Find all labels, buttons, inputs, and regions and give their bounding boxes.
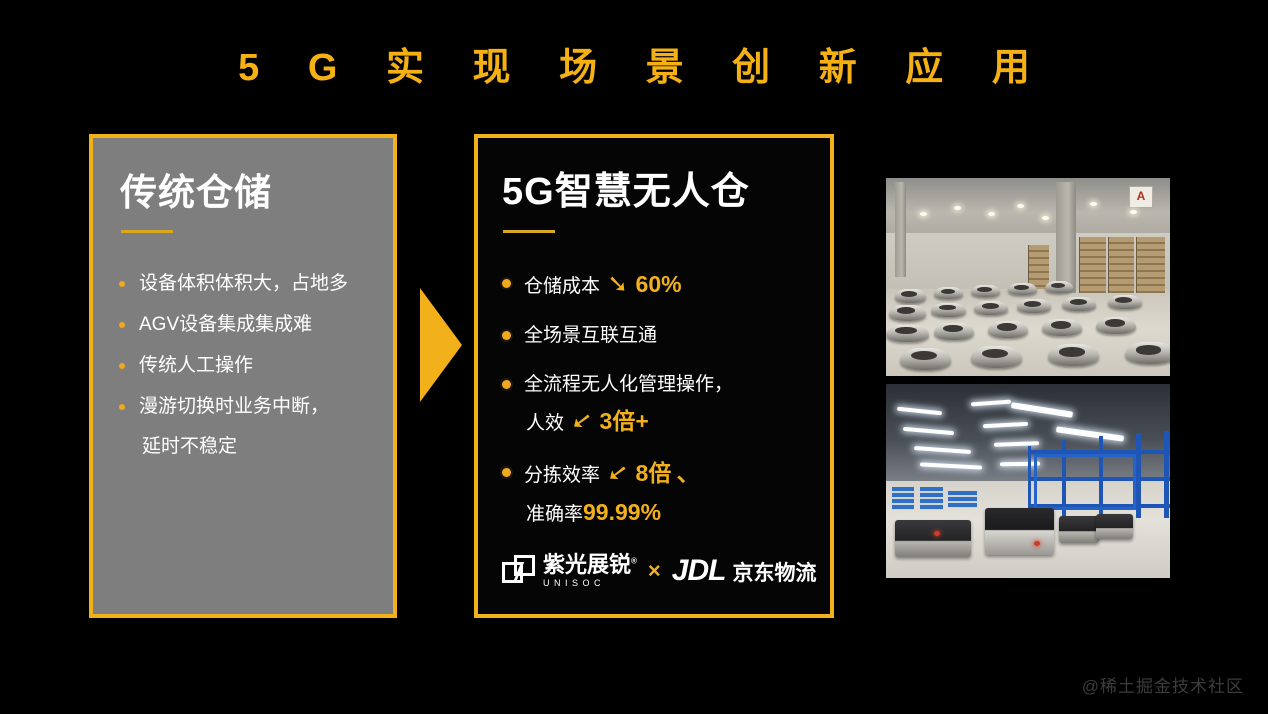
metric-value: 60% — [636, 271, 682, 297]
list-item-text: 全场景互联互通 — [524, 325, 657, 346]
arrow-up-trend-icon: ➘ — [603, 453, 633, 492]
arrow-down-trend-icon: ➘ — [605, 266, 630, 302]
list-item: 全流程无人化管理操作， 人效 ➘ 3倍+ — [502, 367, 816, 442]
list-item-text: 漫游切换时业务中断， — [139, 396, 329, 417]
left-panel-heading: 传统仓储 — [120, 162, 272, 216]
metric-suffix: 、 — [677, 460, 700, 486]
jdl-wordmark: JDL — [672, 554, 726, 588]
list-item-text: 设备体积体积大，占地多 — [139, 273, 348, 294]
list-item-text: 全流程无人化管理操作， — [524, 374, 733, 395]
list-item: 仓储成本 ➘ 60% — [502, 266, 816, 305]
bullet-dot-icon — [502, 279, 511, 288]
unisoc-logo: 紫光展锐® UNISOC — [502, 554, 637, 588]
aisle-sign-a: A — [1129, 186, 1153, 208]
metric-value-2: 99.99% — [583, 499, 661, 525]
metric-value: 8倍 — [636, 460, 672, 486]
left-panel-bullet-list: 设备体积体积大，占地多 AGV设备集成集成难 传统人工操作 漫游切换时业务中断，… — [117, 264, 379, 468]
list-item-text: 分拣效率 — [524, 465, 600, 486]
list-item-text: 仓储成本 — [524, 276, 600, 297]
unisoc-mark-icon — [502, 555, 536, 587]
list-item: 传统人工操作 — [117, 346, 379, 386]
panel-5g-smart-warehouse: 5G智慧无人仓 仓储成本 ➘ 60% 全场景互联互通 全流程无人化管理操作， 人… — [474, 134, 834, 618]
bullet-dot-icon — [119, 404, 125, 410]
metric-value: 3倍+ — [600, 408, 649, 434]
list-item-line2: 准确率99.99% — [524, 494, 816, 533]
logo-separator-x: × — [648, 558, 661, 584]
panel-traditional-warehouse: 传统仓储 设备体积体积大，占地多 AGV设备集成集成难 传统人工操作 漫游切换时… — [89, 134, 397, 618]
arrow-right-icon — [420, 288, 462, 402]
list-item: 漫游切换时业务中断， 延时不稳定 — [117, 387, 379, 467]
list-item-text-line2: 准确率 — [526, 504, 583, 525]
list-item: 分拣效率 ➘ 8倍 、 准确率99.99% — [502, 455, 816, 533]
photo-warehouse-agv-fleet: A — [886, 178, 1170, 376]
photo-warehouse-blue-racking — [886, 384, 1170, 578]
list-item-text: AGV设备集成集成难 — [139, 314, 312, 335]
jdl-logo: JDL 京东物流 — [672, 554, 817, 588]
partner-logo-row: 紫光展锐® UNISOC × JDL 京东物流 — [502, 554, 816, 588]
list-item: AGV设备集成集成难 — [117, 305, 379, 345]
left-panel-divider — [121, 230, 173, 233]
slide-canvas: 5 G 实 现 场 景 创 新 应 用 传统仓储 设备体积体积大，占地多 AGV… — [0, 0, 1268, 714]
bullet-dot-icon — [119, 281, 125, 287]
jdl-name-cn: 京东物流 — [732, 557, 816, 587]
bullet-dot-icon — [502, 468, 511, 477]
watermark: @稀土掘金技术社区 — [1082, 672, 1244, 697]
right-panel-bullet-list: 仓储成本 ➘ 60% 全场景互联互通 全流程无人化管理操作， 人效 ➘ 3倍+ — [502, 266, 816, 546]
list-item-text-line2: 延时不稳定 — [139, 427, 379, 467]
list-item-line2: 人效 ➘ 3倍+ — [524, 403, 816, 442]
list-item: 全场景互联互通 — [502, 318, 816, 354]
unisoc-wordmark: 紫光展锐® UNISOC — [543, 554, 637, 588]
right-panel-divider — [503, 230, 555, 233]
bullet-dot-icon — [502, 331, 511, 340]
bullet-dot-icon — [119, 363, 125, 369]
list-item-text: 传统人工操作 — [139, 355, 253, 376]
unisoc-name-en: UNISOC — [543, 579, 637, 588]
unisoc-name-cn: 紫光展锐 — [543, 552, 631, 577]
arrow-up-trend-icon: ➘ — [567, 401, 597, 440]
right-panel-heading: 5G智慧无人仓 — [502, 160, 750, 215]
list-item-text-line2: 人效 — [526, 413, 564, 434]
bullet-dot-icon — [502, 380, 511, 389]
page-title: 5 G 实 现 场 景 创 新 应 用 — [0, 44, 1268, 92]
bullet-dot-icon — [119, 322, 125, 328]
list-item: 设备体积体积大，占地多 — [117, 264, 379, 304]
